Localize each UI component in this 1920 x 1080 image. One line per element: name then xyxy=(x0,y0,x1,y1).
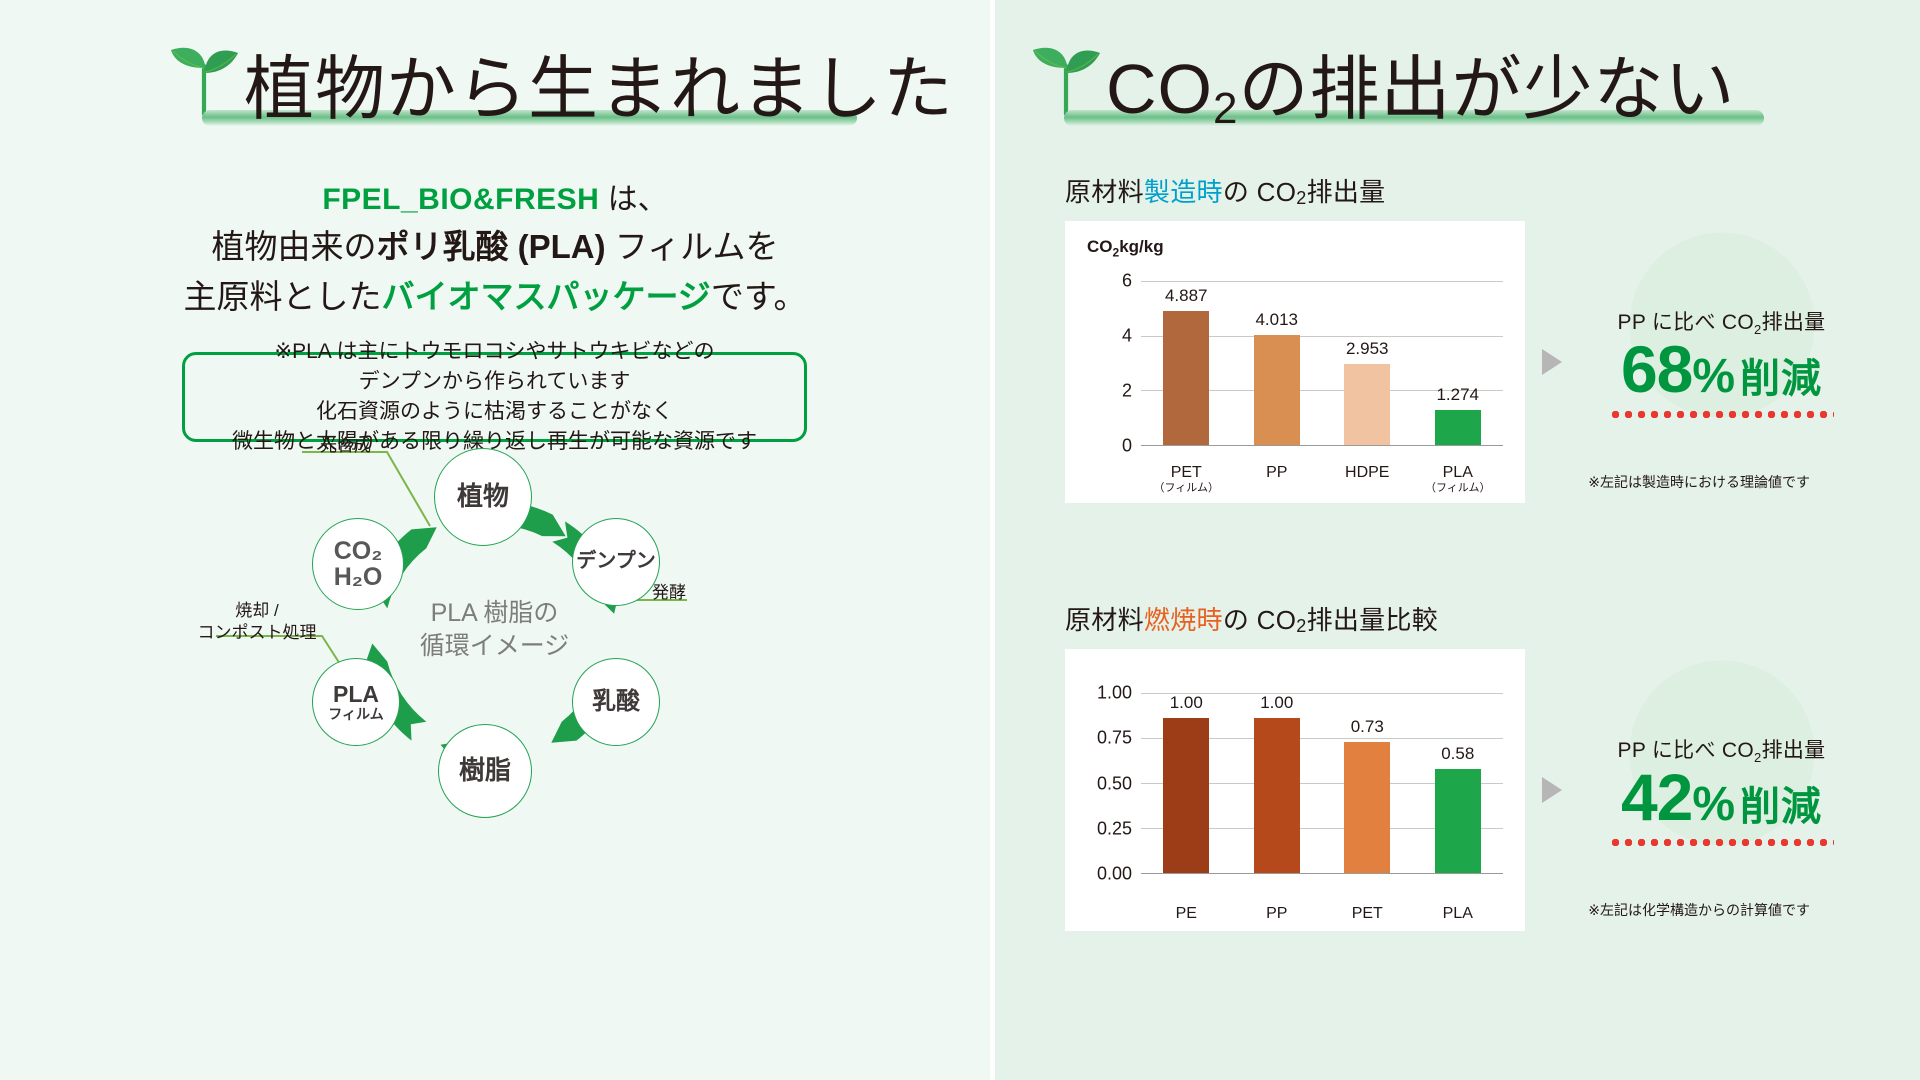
intro-line-1: FPEL_BIO&FRESH は、 xyxy=(0,178,990,222)
chart-1-caption-a: PP に比べ CO xyxy=(1618,311,1755,334)
chart-1-result-number: 68 xyxy=(1621,335,1692,404)
intro-line-2-a: 植物由来の xyxy=(211,228,376,265)
chart-2-result: PP に比べ CO2排出量 42%削減 xyxy=(1579,649,1864,931)
chart-1-title-c: 排出量 xyxy=(1307,177,1386,207)
chart-block-manufacturing: 原材料製造時の CO2排出量 CO2kg/kg 02464.8874.0132.… xyxy=(1065,172,1865,503)
note-line-3: 化石資源のように枯渇することがなく xyxy=(232,397,757,427)
x-axis-label: PP xyxy=(1232,905,1323,923)
x-axis-label: HDPE xyxy=(1322,464,1413,495)
chart-2-result-word: 削減 xyxy=(1740,774,1822,832)
sprout-icon xyxy=(168,38,242,116)
bar-slot: 0.73 xyxy=(1322,693,1413,873)
cycle-label-fermentation-text: 発酵 xyxy=(652,583,686,602)
intro-line-2-b: ポリ乳酸 (PLA) xyxy=(376,228,605,265)
left-heading-text: 植物から生まれました xyxy=(244,50,954,128)
pla-cycle-diagram: PLA 樹脂の 循環イメージ 植物 デンプン 乳酸 樹脂 PLA フィルム CO… xyxy=(182,430,807,830)
bar xyxy=(1344,742,1390,873)
chart-1-title-a: 原材料 xyxy=(1065,177,1144,207)
chart-2-arrow xyxy=(1525,649,1579,931)
bar-slot: 4.887 xyxy=(1141,281,1232,445)
chart-1-caption-b: 排出量 xyxy=(1762,311,1826,334)
chart-2-x-labels: PEPPPETPLA xyxy=(1141,905,1503,923)
y-axis-tick: 4 xyxy=(1122,325,1132,346)
chart-2-dotted-underline xyxy=(1609,839,1834,846)
panel-divider xyxy=(990,0,995,1080)
x-axis-label: PP xyxy=(1232,464,1323,495)
chart-1-title: 原材料製造時の CO2排出量 xyxy=(1065,172,1865,209)
cycle-node-plant-label: 植物 xyxy=(457,483,509,511)
chart-1-unit-label: CO2kg/kg xyxy=(1087,237,1164,259)
x-axis-label: PLA xyxy=(1413,905,1504,923)
chart-2-result-percent: % xyxy=(1692,780,1735,830)
intro-text: FPEL_BIO&FRESH は、 植物由来のポリ乳酸 (PLA) フィルムを … xyxy=(0,178,990,321)
cycle-label-photosynthesis: 光合成 xyxy=(320,435,371,457)
bar-value-label: 1.00 xyxy=(1170,693,1203,713)
chart-1-dotted-underline xyxy=(1609,411,1834,418)
chart-2-result-value: 42%削減 xyxy=(1621,763,1822,832)
right-heading-co2: CO xyxy=(1106,50,1213,128)
chart-2-title-b: の CO xyxy=(1223,605,1296,635)
bar-value-label: 1.274 xyxy=(1436,385,1479,405)
chart-1-footnote: ※左記は製造時における理論値です xyxy=(1588,472,1810,492)
cycle-label-fermentation: 発酵 xyxy=(652,582,686,604)
cycle-node-starch: デンプン xyxy=(572,518,660,606)
y-axis-tick: 0 xyxy=(1122,436,1132,457)
bar-value-label: 4.013 xyxy=(1255,310,1298,330)
cycle-label-incineration-line-2: コンポスト処理 xyxy=(192,622,322,644)
cycle-node-co2-label: CO₂ xyxy=(334,538,383,565)
right-heading: CO2の排出が少ない xyxy=(1030,38,1735,124)
chart-2-title-sub: 2 xyxy=(1296,616,1306,636)
bar xyxy=(1344,364,1390,445)
x-axis-label: PET（フィルム） xyxy=(1141,464,1232,495)
right-heading-subscript: 2 xyxy=(1213,84,1238,133)
x-axis-label: PE xyxy=(1141,905,1232,923)
bar-slot: 1.00 xyxy=(1141,693,1232,873)
chart-2-result-number: 42 xyxy=(1621,763,1692,832)
bar xyxy=(1254,718,1300,873)
gridline: 0 xyxy=(1141,445,1503,446)
bar-slot: 2.953 xyxy=(1322,281,1413,445)
right-heading-rest: の排出が少ない xyxy=(1238,50,1735,128)
cycle-node-h2o-label: H₂O xyxy=(334,564,383,591)
cycle-node-pla-sub: フィルム xyxy=(328,707,383,722)
cycle-node-co2-h2o: CO₂ H₂O xyxy=(312,518,404,610)
cycle-center-label: PLA 樹脂の 循環イメージ xyxy=(420,597,570,663)
cycle-label-incineration: 焼却 / コンポスト処理 xyxy=(192,600,322,644)
chart-2-footnote: ※左記は化学構造からの計算値です xyxy=(1588,900,1810,920)
cycle-node-lactic: 乳酸 xyxy=(572,658,660,746)
bar xyxy=(1254,335,1300,445)
cycle-node-starch-label: デンプン xyxy=(576,551,655,572)
chart-1-arrow xyxy=(1525,221,1579,503)
chart-1-result-value: 68%削減 xyxy=(1621,335,1822,404)
chart-2-title-c: 排出量比較 xyxy=(1307,605,1439,635)
chart-1-title-sub: 2 xyxy=(1296,188,1306,208)
intro-line-1-tail: は、 xyxy=(599,183,667,216)
chart-1-result-word: 削減 xyxy=(1740,346,1822,404)
left-heading: 植物から生まれました xyxy=(168,38,954,124)
bar-value-label: 0.58 xyxy=(1441,744,1474,764)
pla-note-box: ※PLA は主にトウモロコシやサトウキビなどの デンプンから作られています 化石… xyxy=(182,352,807,442)
cycle-node-pla-label: PLA xyxy=(333,682,379,706)
chart-1-x-labels: PET（フィルム）PPHDPEPLA（フィルム） xyxy=(1141,464,1503,495)
bar xyxy=(1435,410,1481,445)
y-axis-tick: 6 xyxy=(1122,271,1132,292)
brand-name: FPEL_BIO&FRESH xyxy=(322,183,599,216)
chart-1-card: CO2kg/kg 02464.8874.0132.9531.274 PET（フィ… xyxy=(1065,221,1525,503)
bar-value-label: 0.73 xyxy=(1351,717,1384,737)
bar-value-label: 4.887 xyxy=(1165,286,1208,306)
cycle-node-plant: 植物 xyxy=(434,448,532,546)
y-axis-tick: 0.75 xyxy=(1097,728,1132,749)
intro-line-3-c: です。 xyxy=(711,278,807,315)
intro-line-3: 主原料としたバイオマスパッケージです。 xyxy=(0,272,990,322)
y-axis-tick: 0.00 xyxy=(1097,864,1132,885)
chart-2-title-a: 原材料 xyxy=(1065,605,1144,635)
bar xyxy=(1163,718,1209,873)
chart-2-caption-b: 排出量 xyxy=(1762,739,1826,762)
note-line-2: デンプンから作られています xyxy=(232,367,757,397)
chart-block-combustion: 原材料燃焼時の CO2排出量比較 0.000.250.500.751.001.0… xyxy=(1065,600,1865,931)
x-axis-label: PET xyxy=(1322,905,1413,923)
arrow-right-icon xyxy=(1542,349,1562,375)
bar-value-label: 2.953 xyxy=(1346,339,1389,359)
bar-group: 1.001.000.730.58 xyxy=(1141,693,1503,873)
chart-1-plot: 02464.8874.0132.9531.274 xyxy=(1141,281,1503,445)
bar-slot: 0.58 xyxy=(1413,693,1504,873)
bar xyxy=(1163,311,1209,445)
cycle-node-resin-label: 樹脂 xyxy=(459,757,511,785)
y-axis-tick: 1.00 xyxy=(1097,683,1132,704)
chart-1-title-b: の CO xyxy=(1223,177,1296,207)
note-line-1: ※PLA は主にトウモロコシやサトウキビなどの xyxy=(232,337,757,367)
cycle-node-resin: 樹脂 xyxy=(438,724,532,818)
cycle-node-pla-film: PLA フィルム xyxy=(312,658,400,746)
arrow-right-icon xyxy=(1542,777,1562,803)
infographic-page: 植物から生まれました FPEL_BIO&FRESH は、 植物由来のポリ乳酸 (… xyxy=(0,0,1920,1080)
bar-slot: 4.013 xyxy=(1232,281,1323,445)
chart-2-card: 0.000.250.500.751.001.001.000.730.58 PEP… xyxy=(1065,649,1525,931)
cycle-node-lactic-label: 乳酸 xyxy=(592,689,640,714)
bar-slot: 1.00 xyxy=(1232,693,1323,873)
gridline: 0.00 xyxy=(1141,873,1503,874)
y-axis-tick: 0.25 xyxy=(1097,818,1132,839)
chart-2-caption-a: PP に比べ CO xyxy=(1618,739,1755,762)
intro-line-3-a: 主原料とした xyxy=(183,278,381,315)
chart-1-result: PP に比べ CO2排出量 68%削減 xyxy=(1579,221,1864,503)
chart-2-plot: 0.000.250.500.751.001.001.000.730.58 xyxy=(1141,693,1503,873)
chart-2-title: 原材料燃焼時の CO2排出量比較 xyxy=(1065,600,1865,637)
intro-line-3-b: バイオマスパッケージ xyxy=(381,278,710,315)
bar xyxy=(1435,769,1481,873)
cycle-center-line-2: 循環イメージ xyxy=(420,630,570,663)
cycle-label-photosynthesis-text: 光合成 xyxy=(320,436,371,455)
x-axis-label: PLA（フィルム） xyxy=(1413,464,1504,495)
sprout-icon xyxy=(1030,38,1104,116)
y-axis-tick: 2 xyxy=(1122,380,1132,401)
y-axis-tick: 0.50 xyxy=(1097,773,1132,794)
chart-1-title-highlight: 製造時 xyxy=(1144,177,1223,207)
bar-group: 4.8874.0132.9531.274 xyxy=(1141,281,1503,445)
bar-slot: 1.274 xyxy=(1413,281,1504,445)
bar-value-label: 1.00 xyxy=(1260,693,1293,713)
chart-1-result-percent: % xyxy=(1692,352,1735,402)
intro-line-2-c: フィルムを xyxy=(606,228,779,265)
intro-line-2: 植物由来のポリ乳酸 (PLA) フィルムを xyxy=(0,222,990,272)
chart-2-title-highlight: 燃焼時 xyxy=(1144,605,1223,635)
cycle-center-line-1: PLA 樹脂の xyxy=(420,597,570,630)
cycle-label-incineration-line-1: 焼却 / xyxy=(192,600,322,622)
